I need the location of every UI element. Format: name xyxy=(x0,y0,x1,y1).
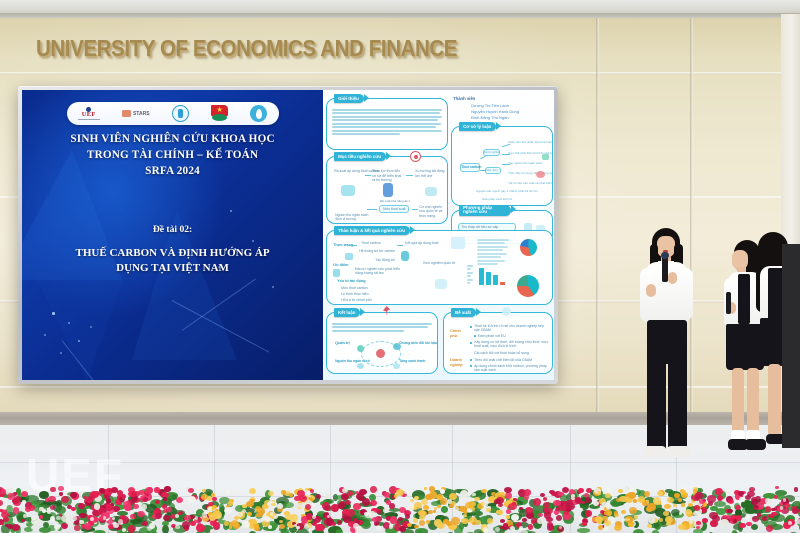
flower xyxy=(696,521,700,525)
particle xyxy=(60,352,62,354)
discussion-label: Tác động tới xyxy=(375,258,395,262)
section-header-method: Phương pháp nghiên cứu xyxy=(459,205,511,216)
section-header-proposal: Đề xuất xyxy=(451,308,476,317)
discussion-label: Yếu tố tác động xyxy=(337,279,365,283)
flower xyxy=(774,495,779,499)
connector xyxy=(365,175,371,176)
flower xyxy=(268,491,274,496)
bullet xyxy=(470,365,472,367)
flower xyxy=(196,524,204,532)
flower xyxy=(224,507,232,514)
flower xyxy=(533,498,541,506)
flower xyxy=(638,496,645,503)
wall-signage-text: UNIVERSITY OF ECONOMICS AND FINANCE xyxy=(36,36,556,63)
flower xyxy=(133,504,139,510)
flower xyxy=(543,497,547,501)
flower xyxy=(710,527,715,532)
particle xyxy=(252,240,254,242)
flower xyxy=(685,509,692,515)
flower xyxy=(765,498,771,504)
discussion-label: Đầu tư nghiên cứu phát triển năng lượng … xyxy=(355,267,407,276)
flower xyxy=(100,526,104,530)
flower xyxy=(408,505,414,511)
flower xyxy=(31,525,36,530)
flower xyxy=(678,524,686,530)
blue-flame-logo xyxy=(250,105,267,122)
flower xyxy=(780,506,783,509)
flower xyxy=(657,491,664,496)
discussion-label: Kết quả áp dụng thuế carbon xyxy=(405,241,439,245)
connector xyxy=(349,245,357,246)
flower xyxy=(454,511,457,514)
flower xyxy=(792,508,799,513)
dark-panel-edge xyxy=(782,244,800,448)
objective-icon xyxy=(341,185,355,196)
objective-label: Mức thuế suất xyxy=(383,207,405,211)
objective-icon xyxy=(383,183,393,197)
slide-topic-line2: DỤNG TẠI VIỆT NAM xyxy=(28,261,317,276)
section-header-theory: Cơ sở lý luận xyxy=(459,122,496,131)
flower xyxy=(474,497,479,501)
flower xyxy=(90,517,94,521)
connector xyxy=(406,175,413,176)
flower xyxy=(486,508,491,512)
flower xyxy=(720,519,728,526)
flower xyxy=(585,510,593,517)
members-title: Thành viên xyxy=(453,96,475,101)
flower xyxy=(145,487,153,494)
flower xyxy=(5,524,9,527)
flower xyxy=(607,489,612,493)
chart-pie-2 xyxy=(517,275,539,297)
flower xyxy=(242,521,250,528)
flower xyxy=(297,503,302,508)
flower xyxy=(54,524,60,530)
flower xyxy=(762,516,767,520)
ceiling xyxy=(0,0,800,14)
flower xyxy=(103,516,106,519)
flower xyxy=(678,498,682,501)
particle xyxy=(90,326,92,328)
foliage xyxy=(693,529,702,533)
youth-union-logo xyxy=(211,105,228,122)
flower xyxy=(225,489,231,494)
flower xyxy=(142,521,148,526)
flower xyxy=(208,507,212,511)
flower xyxy=(141,504,147,510)
poster-section-intro: Giới thiệu xyxy=(326,98,448,150)
flower xyxy=(682,490,686,493)
flower xyxy=(451,517,459,525)
flower xyxy=(163,515,169,521)
uef-logo-label: UEF xyxy=(82,112,96,119)
flower xyxy=(289,493,294,497)
flower xyxy=(727,509,733,514)
flower xyxy=(111,487,119,493)
flower xyxy=(390,516,397,523)
flower xyxy=(751,497,757,502)
flower xyxy=(511,529,514,532)
flower xyxy=(249,488,256,494)
trouser-leg-left xyxy=(647,358,666,452)
connector xyxy=(502,164,510,165)
flower xyxy=(267,502,271,506)
slide-title-line3: SRFA 2024 xyxy=(22,164,323,180)
flower xyxy=(325,494,330,499)
flower xyxy=(247,512,252,516)
flower xyxy=(121,494,126,499)
foliage xyxy=(633,529,644,533)
member-name: Đinh Đặng Thu Ngân xyxy=(471,115,509,120)
poster-section-conclusion: Kết luận Quản trị Chứng biến đổi khí hậu… xyxy=(326,312,438,374)
connector xyxy=(412,209,418,210)
theory-center-label: Thuế carbon xyxy=(461,165,481,169)
member-name: Dương Thị Tiên Lành xyxy=(471,103,509,108)
flower xyxy=(784,503,790,509)
flower xyxy=(84,523,92,530)
flower xyxy=(175,514,179,518)
flower xyxy=(559,526,562,529)
flower xyxy=(21,519,25,522)
hand-right xyxy=(668,272,677,284)
presentation-screen[interactable]: UEF STARS xyxy=(18,86,558,384)
flower xyxy=(1,489,6,493)
sleeve-right xyxy=(678,268,693,320)
flower xyxy=(370,486,377,493)
flower xyxy=(528,524,534,529)
flower xyxy=(92,510,98,516)
flower xyxy=(702,518,709,523)
proposal-group1-text: Chính phủ xyxy=(450,329,461,338)
flower xyxy=(581,501,585,504)
flower xyxy=(715,488,722,495)
flower xyxy=(556,515,562,521)
flower xyxy=(163,497,167,501)
flower xyxy=(324,505,331,512)
flower xyxy=(433,513,437,516)
section-header-conclusion: Kết luận xyxy=(334,308,360,317)
flower xyxy=(175,525,180,530)
chart-bar-1 xyxy=(479,263,509,285)
flower xyxy=(143,497,148,502)
flower xyxy=(633,499,638,503)
particle xyxy=(230,210,232,212)
flower xyxy=(519,490,523,494)
particle xyxy=(272,286,274,288)
flower xyxy=(537,518,544,523)
flower xyxy=(621,510,626,514)
discussion-label: Lộ trình thực hiện xyxy=(341,292,368,296)
flower xyxy=(437,522,445,529)
connector xyxy=(502,154,510,155)
flower xyxy=(679,512,682,515)
flower xyxy=(709,512,717,519)
flower xyxy=(99,488,104,493)
proposal-group1-label: Chính phủ xyxy=(450,329,466,338)
uef-logo: UEF xyxy=(78,107,100,120)
connector xyxy=(397,245,403,246)
flower xyxy=(353,503,361,509)
slide-topic: THUẾ CARBON VÀ ĐỊNH HƯỚNG ÁP DỤNG TẠI VI… xyxy=(28,246,317,276)
intro-body xyxy=(332,109,442,137)
wall-seam xyxy=(0,72,800,75)
bullet xyxy=(474,335,476,337)
flower xyxy=(733,519,737,523)
flower xyxy=(22,500,25,503)
theory-label: Giảm tiêu thụ nhiên liệu hóa thạch xyxy=(508,140,552,144)
flower xyxy=(61,496,69,503)
foliage xyxy=(162,525,169,533)
logo-bar: UEF STARS xyxy=(67,102,279,125)
flower xyxy=(182,521,190,529)
flower xyxy=(338,502,345,509)
leg xyxy=(768,364,781,436)
hand-left xyxy=(646,284,656,297)
bullet xyxy=(470,359,472,361)
flower xyxy=(257,512,262,517)
flower xyxy=(564,511,569,515)
flower xyxy=(506,515,510,518)
foliage xyxy=(441,506,449,513)
vest xyxy=(738,274,750,324)
wall-signage: UNIVERSITY OF ECONOMICS AND FINANCE xyxy=(36,36,556,62)
bullet xyxy=(470,342,472,344)
method-label: Thu thập dữ liệu sơ cấp xyxy=(461,225,498,229)
flower xyxy=(426,520,430,524)
objective-label: Nguồn thu ngân sách định vị tương xyxy=(335,213,369,222)
proposal-item: Xây dựng cơ sở thuế, đối tượng chịu thuế… xyxy=(474,340,550,349)
foliage xyxy=(665,489,673,493)
flower xyxy=(547,524,554,530)
flower xyxy=(31,516,36,519)
flower xyxy=(487,518,493,524)
bar xyxy=(479,268,484,285)
flower xyxy=(673,504,677,508)
flower xyxy=(717,495,723,501)
flower xyxy=(460,490,468,498)
sneaker-right xyxy=(667,446,690,457)
proposal-item: Thuế kê lộ trình rõ nét cho doanh nghiệp… xyxy=(474,324,550,333)
poster-section-discussion: Thảo luận & kết quả nghiên cứu Thực trạn… xyxy=(326,230,553,305)
flower xyxy=(316,494,322,500)
theory-label: Mục tiêu xyxy=(486,168,498,172)
flower xyxy=(342,488,348,493)
flower xyxy=(664,504,671,510)
discussion-label: Mức thuế carbon xyxy=(341,286,367,290)
conclusion-icon xyxy=(357,363,364,369)
member-name: Nguyễn Huỳnh Hạnh Dung xyxy=(471,109,519,114)
flower xyxy=(659,518,663,522)
theory-decor-icon xyxy=(536,171,545,178)
flower xyxy=(271,503,276,507)
flower xyxy=(681,503,685,507)
section-header-method-text: Phương pháp nghiên cứu xyxy=(463,205,492,214)
flower xyxy=(578,488,584,493)
conclusion-label: Quản trị xyxy=(335,341,350,345)
flower xyxy=(154,487,159,492)
flower xyxy=(252,520,257,524)
flower xyxy=(524,489,531,496)
flower xyxy=(419,520,425,526)
flower xyxy=(176,497,183,503)
objective-label: Xu hướng tất động lực thể chế xyxy=(415,169,445,178)
bar xyxy=(500,282,505,286)
flower xyxy=(377,510,382,514)
flower xyxy=(440,498,447,505)
flower xyxy=(389,503,395,508)
flower xyxy=(504,487,512,493)
objective-label: Đề xuất khả năng áp dụng tại Việt Nam xyxy=(380,199,410,203)
discussion-label: Thuế carbon xyxy=(361,241,381,245)
flower xyxy=(667,497,674,503)
flower xyxy=(255,506,261,511)
flower xyxy=(195,516,198,519)
flower xyxy=(212,497,216,501)
flower xyxy=(407,523,412,527)
chart-tick-marks xyxy=(467,265,473,286)
objective-label: Cơ chế nghiên cứu quốc tế và thực trạng xyxy=(419,205,445,218)
flower xyxy=(153,511,157,515)
foliage xyxy=(361,521,371,528)
slide-subtitle: Đề tài 02: xyxy=(22,224,323,235)
circular-teal-logo xyxy=(172,105,189,122)
proposal-item: Đảm phán với EU xyxy=(478,334,506,338)
foliage xyxy=(577,528,590,532)
slide-topic-line1: THUẾ CARBON VÀ ĐỊNH HƯỚNG ÁP xyxy=(28,246,317,261)
flower xyxy=(549,490,555,494)
flower xyxy=(7,493,15,500)
flower xyxy=(210,529,214,533)
flower xyxy=(163,509,167,513)
microphone-head xyxy=(661,252,669,259)
conclusion-body xyxy=(332,323,432,333)
foliage xyxy=(283,502,293,508)
flower xyxy=(796,519,800,523)
flower xyxy=(83,496,87,499)
flower xyxy=(61,523,67,529)
poster-section-proposal: Đề xuất Chính phủ Thuế kê lộ trình rõ né… xyxy=(443,312,553,374)
foliage xyxy=(336,529,344,533)
flower xyxy=(519,507,523,510)
discussion-icon xyxy=(345,253,353,260)
proposal-item: Theo dõi chặt chẽ biến độ của CBAM xyxy=(474,358,532,362)
theory-label: Tái cơ cấu sản xuất và phát triển nguyên… xyxy=(508,181,552,185)
flower xyxy=(693,511,698,516)
flower xyxy=(155,500,160,504)
flower xyxy=(519,526,523,530)
flower xyxy=(74,525,81,531)
particle xyxy=(52,312,55,315)
connector xyxy=(367,209,377,210)
flower-bed xyxy=(0,486,800,533)
connector xyxy=(480,170,486,171)
flower xyxy=(356,493,364,500)
flower xyxy=(138,490,145,495)
flower xyxy=(67,521,73,527)
flower xyxy=(674,493,680,498)
target-icon xyxy=(410,151,421,162)
discussion-label: Hỗ trợ từ chính phủ xyxy=(341,298,372,302)
discussion-label: Ưu điểm xyxy=(333,263,348,267)
flower xyxy=(663,511,669,516)
objective-label: Rà soát áp dụng thuế carbon xyxy=(334,169,364,174)
discussion-label: Kinh nghiệm quốc tế xyxy=(423,261,455,265)
foliage xyxy=(43,522,49,528)
flower xyxy=(305,504,311,510)
flower xyxy=(228,501,233,506)
flower xyxy=(370,500,376,506)
flower xyxy=(137,511,145,517)
theory-label: Nguyên tắc người gây ô nhiễm phải trả ch… xyxy=(476,189,538,193)
proposal-decor-icon xyxy=(502,307,511,316)
flower xyxy=(188,496,196,503)
flower xyxy=(61,515,69,522)
flower xyxy=(79,520,84,525)
poster-section-objectives: Mục tiêu nghiên cứu Rà soát áp dụng thuế… xyxy=(326,156,448,224)
members-block: Thành viên Dương Thị Tiên Lành Nguyễn Hu… xyxy=(453,96,553,122)
section-header-discussion: Thảo luận & kết quả nghiên cứu xyxy=(334,226,410,235)
poster-panel: Giới thiệu Thành viên Dương Thị Tiên Làn… xyxy=(323,90,554,380)
flower xyxy=(689,520,693,524)
flower xyxy=(78,503,85,509)
slide-title-panel: UEF STARS xyxy=(22,90,323,380)
flower xyxy=(413,518,418,523)
flower xyxy=(794,487,799,492)
flower xyxy=(0,521,4,524)
flower xyxy=(353,523,359,529)
theory-decor-icon xyxy=(542,154,549,160)
proposal-item: Cải cách đối với thuế hoặc bổ sung xyxy=(474,351,529,355)
bar xyxy=(486,272,491,285)
conclusion-label: Tăng cạnh tranh xyxy=(399,359,425,363)
flower xyxy=(188,488,194,493)
wall-corner-seam xyxy=(596,18,599,418)
flower xyxy=(522,518,526,522)
flower xyxy=(775,486,779,489)
conclusion-label: Chứng biến đổi khí hậu xyxy=(399,341,437,345)
stars-logo-label: STARS xyxy=(133,111,150,117)
proposal-group2-label: Doanh nghiệp xyxy=(450,358,468,367)
flower xyxy=(212,511,219,518)
connector xyxy=(480,156,486,160)
flower xyxy=(629,492,636,498)
sneaker-left xyxy=(644,446,666,457)
poster-section-theory: Cơ sở lý luận Thuế carbon Định nghĩa Mục… xyxy=(451,126,553,206)
slide-main-title: SINH VIÊN NGHIÊN CỨU KHOA HỌC TRONG TÀI … xyxy=(22,132,323,180)
flower xyxy=(648,516,656,524)
flower xyxy=(766,525,773,532)
flower xyxy=(565,500,572,506)
flower xyxy=(39,515,43,518)
flower xyxy=(337,520,343,525)
flower xyxy=(440,489,445,494)
objective-label: Tiềm lực thực tiễn cơ sở để triển khai r… xyxy=(372,169,404,183)
stars-logo: STARS xyxy=(122,110,150,117)
microphone[interactable] xyxy=(726,292,731,314)
flower xyxy=(728,499,733,504)
discussion-icon xyxy=(401,251,409,261)
flower xyxy=(246,501,254,507)
discussion-icon xyxy=(451,237,465,249)
flower xyxy=(376,525,382,531)
flower xyxy=(618,489,623,493)
slide-title-line2: TRONG TÀI CHÍNH – KẾ TOÁN xyxy=(22,148,323,164)
flower xyxy=(130,514,136,520)
flower xyxy=(472,522,476,525)
connector xyxy=(502,144,510,147)
objective-icon xyxy=(425,187,437,196)
flower xyxy=(606,504,612,510)
